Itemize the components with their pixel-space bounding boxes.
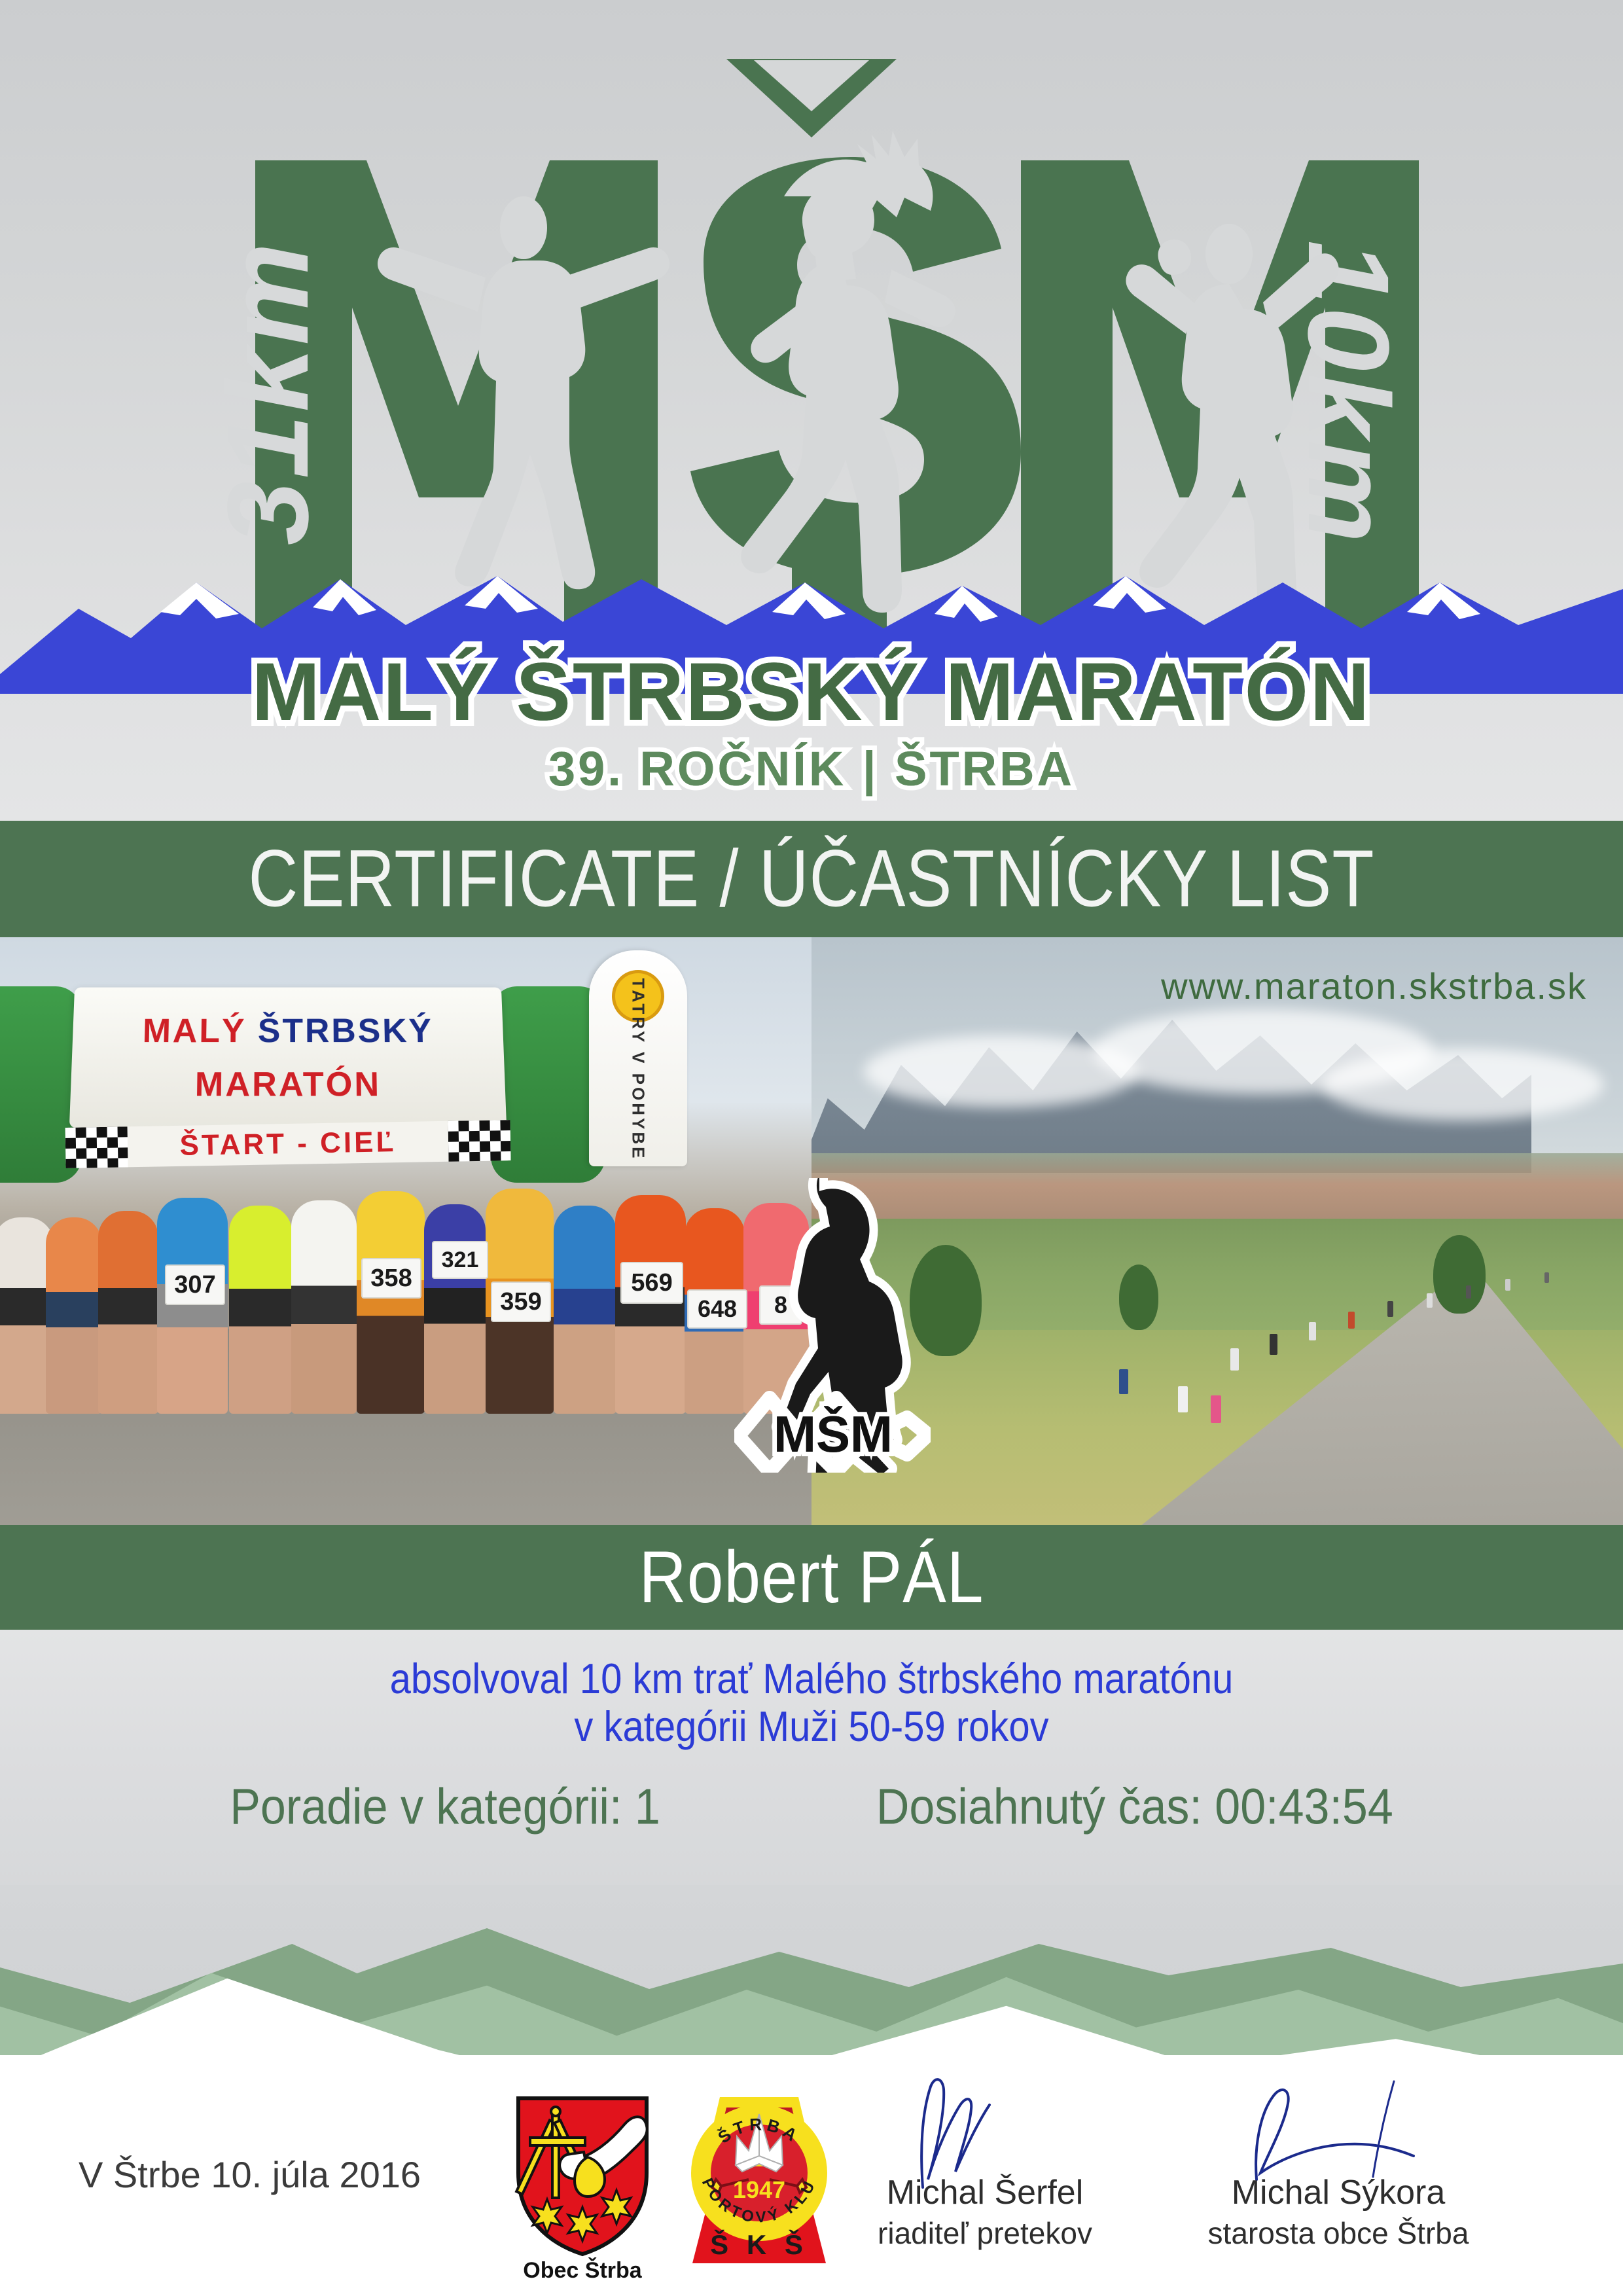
sponsor-flag-text: TATRY V POHYBE [628, 978, 649, 1160]
bib-number: 569 [620, 1262, 683, 1304]
website-url[interactable]: www.maraton.skstrba.sk [1161, 965, 1587, 1007]
sponsor-flag: TATRY V POHYBE [589, 950, 687, 1166]
certificate-title-band: CERTIFICATE / ÚČASTNÍCKY LIST [0, 821, 1623, 937]
arch-banner: MALÝ ŠTRBSKÝ MARATÓN [69, 988, 507, 1128]
photo-mass-start: MALÝ ŠTRBSKÝ MARATÓN ŠTART - CIEĽ TATRY … [0, 937, 811, 1525]
photo-tatra-road [811, 937, 1623, 1525]
bib-number: 321 [432, 1241, 488, 1279]
msm-runner-badge-icon: MŠM MŠM [734, 1178, 931, 1473]
category-rank: Poradie v kategórii: 1 [230, 1778, 660, 1835]
svg-text:39. ROČNÍK | ŠTRBA: 39. ROČNÍK | ŠTRBA [548, 742, 1075, 797]
issue-date: V Štrbe 10. júla 2016 [79, 2153, 421, 2196]
runner-crowd: 307 358 321 359 569 648 8 [0, 1139, 811, 1414]
achievement-description: absolvoval 10 km trať Malého štrbského m… [0, 1656, 1623, 1751]
municipality-crest: Obec Štrba [510, 2094, 654, 2291]
participant-name: Robert PÁL [639, 1535, 984, 1620]
sks-club-logo-icon: 1947 ŠTRBA ŠPORTOVÝ KLUB Š K Š [681, 2088, 838, 2284]
description-line-2: v kategórii Muži 50-59 rokov [0, 1700, 1623, 1753]
certificate-title: CERTIFICATE / ÚČASTNÍCKY LIST [249, 833, 1375, 925]
signature-name: Michal Šerfel [844, 2173, 1126, 2212]
svg-text:MALÝ ŠTRBSKÝ MARATÓN: MALÝ ŠTRBSKÝ MARATÓN [252, 647, 1371, 738]
arch-line2: MARATÓN [70, 1065, 506, 1104]
signature-role: riaditeľ pretekov [844, 2215, 1126, 2251]
club-initials: Š K Š [710, 2229, 808, 2260]
logo-hero: 31km 10km [0, 0, 1623, 821]
signature-role: starosta obce Štrba [1198, 2215, 1479, 2251]
arch-line1: MALÝ ŠTRBSKÝ [72, 1012, 503, 1050]
caron-accent-icon [726, 59, 897, 137]
municipality-label: Obec Štrba [510, 2258, 654, 2284]
strba-coat-of-arms-icon [510, 2094, 654, 2258]
msm-logo: 31km 10km [0, 0, 1623, 821]
logo-distance-left: 31km [204, 240, 332, 545]
certificate-page: 31km 10km [0, 0, 1623, 2296]
finish-time: Dosiahnutý čas: 00:43:54 [876, 1778, 1393, 1835]
signature-name: Michal Sýkora [1198, 2173, 1479, 2212]
description-line-1: absolvoval 10 km trať Malého štrbského m… [0, 1653, 1623, 1706]
result-row: Poradie v kategórii: 1 Dosiahnutý čas: 0… [0, 1780, 1623, 1833]
certificate-footer: V Štrbe 10. júla 2016 [0, 2081, 1623, 2296]
svg-text:MŠM: MŠM [774, 1405, 893, 1463]
signature-block-director: Michal Šerfel riaditeľ pretekov [844, 2081, 1126, 2296]
bib-number: 358 [361, 1258, 421, 1299]
bib-number: 307 [165, 1265, 225, 1305]
club-year: 1947 [733, 2176, 785, 2203]
bib-number: 359 [491, 1282, 551, 1322]
signature-block-mayor: Michal Sýkora starosta obce Štrba [1198, 2081, 1479, 2296]
participant-name-band: Robert PÁL [0, 1525, 1623, 1630]
svg-text:31km: 31km [204, 240, 332, 545]
